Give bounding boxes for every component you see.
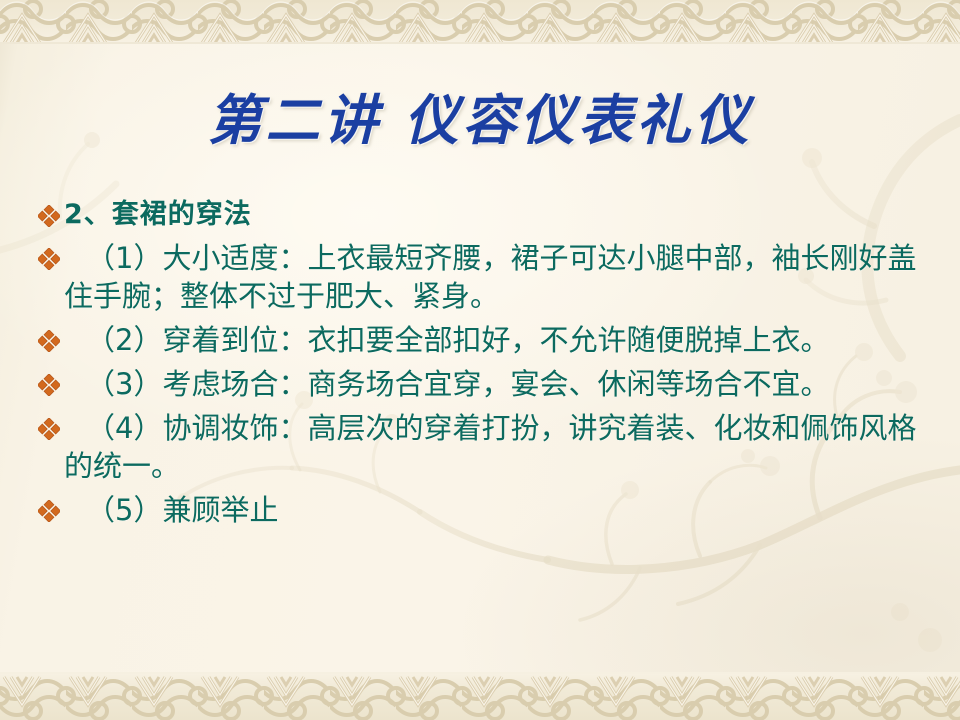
presentation-slide: 第二讲 仪容仪表礼仪 2、套裙的穿法 (0, 0, 960, 720)
diamond-cluster-bullet-icon (34, 239, 64, 270)
diamond-cluster-bullet-icon (34, 409, 64, 440)
list-item[interactable]: 2、套裙的穿法 (34, 196, 934, 234)
diamond-cluster-bullet-icon (34, 321, 64, 352)
diamond-cluster-bullet-icon (34, 491, 64, 522)
list-item[interactable]: （2）穿着到位：衣扣要全部扣好，不允许随便脱掉上衣。 (34, 321, 934, 359)
list-item-label: （5）兼顾举止 (64, 491, 934, 529)
list-item[interactable]: （1）大小适度：上衣最短齐腰，裙子可达小腿中部，袖长刚好盖住手腕；整体不过于肥大… (34, 239, 934, 315)
list-item[interactable]: （4）协调妆饰：高层次的穿着打扮，讲究着装、化妆和佩饰风格的统一。 (34, 409, 934, 485)
list-item-label: 2、套裙的穿法 (64, 196, 934, 234)
slide-body-list: 2、套裙的穿法 （1）大小适度：上衣最短齐腰，裙子可达小腿中部，袖长刚好盖住手腕… (34, 196, 934, 531)
diamond-cluster-bullet-icon (34, 365, 64, 396)
list-item[interactable]: （5）兼顾举止 (34, 491, 934, 529)
diamond-cluster-bullet-icon (34, 196, 64, 227)
list-item-label: （3）考虑场合：商务场合宜穿，宴会、休闲等场合不宜。 (64, 365, 934, 403)
list-item-label: （2）穿着到位：衣扣要全部扣好，不允许随便脱掉上衣。 (64, 321, 934, 359)
list-item-label: （1）大小适度：上衣最短齐腰，裙子可达小腿中部，袖长刚好盖住手腕；整体不过于肥大… (64, 239, 934, 315)
list-item[interactable]: （3）考虑场合：商务场合宜穿，宴会、休闲等场合不宜。 (34, 365, 934, 403)
list-item-label: （4）协调妆饰：高层次的穿着打扮，讲究着装、化妆和佩饰风格的统一。 (64, 409, 934, 485)
slide-title: 第二讲 仪容仪表礼仪 (0, 76, 960, 155)
